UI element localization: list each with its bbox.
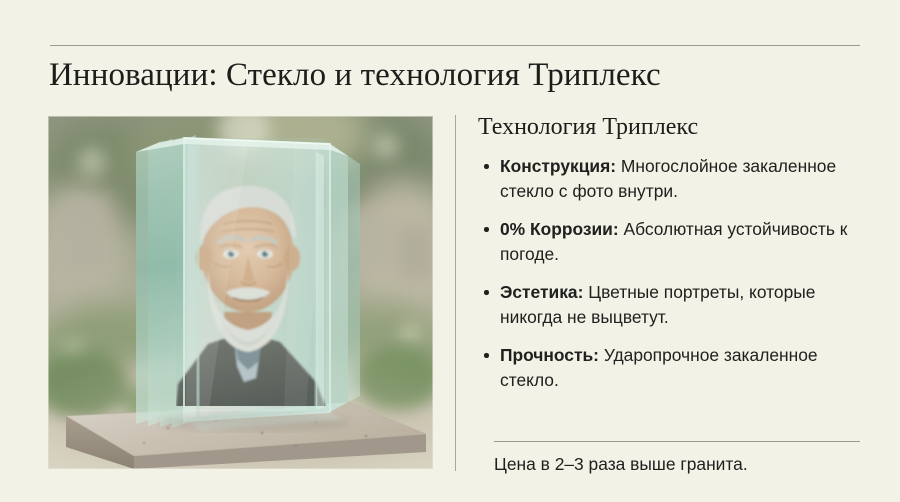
footer-note: Цена в 2–3 раза выше гранита. bbox=[494, 452, 874, 476]
list-item: Эстетика: Цветные портреты, которые нико… bbox=[478, 280, 868, 330]
laminated-glass-memorial-photo-icon bbox=[48, 116, 433, 469]
page-title: Инновации: Стекло и технология Триплекс bbox=[49, 52, 859, 98]
bullet-dot-icon bbox=[484, 353, 489, 358]
bullet-dot-icon bbox=[484, 290, 489, 295]
memorial-glass-photo bbox=[48, 116, 433, 469]
bullet-lead: Конструкция: bbox=[500, 156, 616, 176]
content-column: Технология Триплекс Конструкция: Многосл… bbox=[478, 112, 868, 393]
bullet-lead: Прочность: bbox=[500, 345, 599, 365]
slide-canvas: Инновации: Стекло и технология Триплекс bbox=[0, 0, 900, 502]
header-divider bbox=[50, 45, 860, 46]
content-subtitle: Технология Триплекс bbox=[478, 112, 868, 142]
bullet-dot-icon bbox=[484, 164, 489, 169]
feature-bullet-list: Конструкция: Многослойное закаленное сте… bbox=[478, 154, 868, 393]
list-item: Прочность: Ударопрочное закаленное стекл… bbox=[478, 343, 868, 393]
list-item: 0% Коррозии: Абсолютная устойчивость к п… bbox=[478, 217, 868, 267]
column-divider bbox=[455, 115, 456, 471]
list-item: Конструкция: Многослойное закаленное сте… bbox=[478, 154, 868, 204]
bullet-dot-icon bbox=[484, 227, 489, 232]
bullet-lead: Эстетика: bbox=[500, 282, 583, 302]
footer-divider bbox=[494, 441, 860, 442]
bullet-lead: 0% Коррозии: bbox=[500, 219, 619, 239]
